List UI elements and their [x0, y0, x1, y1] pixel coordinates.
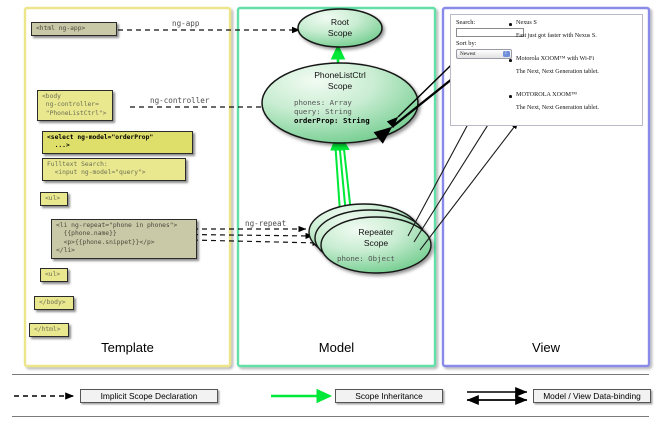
- phone-snippet: The Next, Next Generation tablet.: [516, 105, 599, 111]
- code-box-select-tag[interactable]: <select ng-model="orderProp" ...>: [42, 131, 193, 154]
- ng-controller-label: ng-controller: [150, 96, 209, 105]
- code-box-ul-close[interactable]: <ul>: [40, 268, 68, 282]
- search-input[interactable]: [456, 28, 524, 37]
- ng-app-label: ng-app: [172, 19, 199, 28]
- repeater-prop-phone: phone: Object: [337, 254, 395, 263]
- legend-item-implicit-scope-declaration: Implicit Scope Declaration: [80, 389, 218, 403]
- list-bullet: [509, 95, 512, 98]
- panel-template: [25, 8, 230, 366]
- root-scope-title-line1: Root: [300, 17, 380, 28]
- code-box-body-tag[interactable]: <body ng-controller= "PhoneListCtrl">: [37, 90, 113, 121]
- code-box-li-repeat[interactable]: <li ng-repeat="phone in phones"> {{phone…: [51, 219, 197, 259]
- code-box-body-close[interactable]: </body>: [34, 296, 74, 310]
- panel-model: [238, 8, 435, 366]
- phonelistctrl-prop-query: query: String: [294, 107, 352, 116]
- legend-glyph-double: [467, 392, 527, 400]
- legend-item-scope-inheritance: Scope Inheritance: [335, 389, 443, 403]
- phone-name[interactable]: Nexus S: [516, 19, 537, 26]
- phonelistctrl-prop-phones: phones: Array: [294, 98, 352, 107]
- diagram-canvas: <html ng-app> <body ng-controller= "Phon…: [0, 0, 661, 425]
- sort-label: Sort by:: [456, 40, 476, 47]
- panel-label-template: Template: [25, 340, 230, 355]
- code-box-html-close[interactable]: </html>: [29, 323, 69, 337]
- sort-select[interactable]: Newest: [456, 49, 512, 59]
- repeater-scope-title-line2: Scope: [336, 238, 416, 249]
- search-label: Search:: [456, 19, 475, 26]
- list-bullet: [509, 23, 512, 26]
- phonelistctrl-scope-title-line1: PhoneListCtrl: [290, 70, 390, 81]
- panel-label-model: Model: [238, 340, 435, 355]
- phone-snippet: The Next, Next Generation tablet.: [516, 69, 599, 75]
- ng-repeat-label: ng-repeat: [245, 219, 286, 228]
- list-bullet: [509, 59, 512, 62]
- panel-label-view: View: [443, 340, 649, 355]
- phonelistctrl-prop-orderprop: orderProp: String: [294, 116, 370, 125]
- chevron-updown-icon: [503, 51, 510, 57]
- repeater-scope-title-line1: Repeater: [336, 227, 416, 238]
- code-box-html-tag[interactable]: <html ng-app>: [31, 22, 117, 36]
- phone-name[interactable]: Motorola XOOM™ with Wi-Fi: [516, 55, 594, 62]
- phone-snippet: Fast just got faster with Nexus S.: [516, 33, 597, 39]
- code-box-search-tag[interactable]: Fulltext Search: <input ng-model="query"…: [42, 158, 186, 181]
- legend-divider-bottom: [12, 416, 649, 417]
- phone-name[interactable]: MOTOROLA XOOM™: [516, 91, 577, 98]
- view-rendered-page: Search: Sort by: Newest Nexus S Fast jus…: [450, 14, 643, 126]
- legend-item-model-view-data-binding: Model / View Data-binding: [533, 389, 651, 403]
- code-box-ul-open[interactable]: <ul>: [40, 192, 68, 206]
- phonelistctrl-scope-title-line2: Scope: [290, 81, 390, 92]
- legend-divider-top: [12, 374, 649, 375]
- sort-select-value: Newest: [460, 51, 476, 57]
- root-scope-title-line2: Scope: [300, 28, 380, 39]
